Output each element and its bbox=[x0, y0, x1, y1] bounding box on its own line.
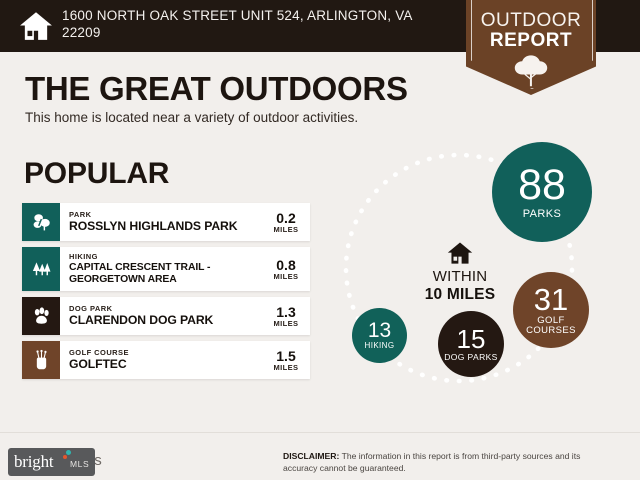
list-item-name: CLARENDON DOG PARK bbox=[69, 314, 213, 327]
list-item[interactable]: DOG PARK CLARENDON DOG PARK 1.3 MILES bbox=[22, 297, 310, 335]
distance-unit: MILES bbox=[269, 225, 303, 234]
list-item-text: DOG PARK CLARENDON DOG PARK bbox=[69, 305, 213, 327]
distance-value: 0.2 bbox=[269, 211, 303, 225]
list-item-distance: 1.3 MILES bbox=[269, 305, 303, 328]
diagram-center-line-1: WITHIN bbox=[400, 268, 520, 285]
distance-value: 0.8 bbox=[269, 258, 303, 272]
page-title: THE GREAT OUTDOORS bbox=[25, 70, 408, 108]
logo-wordmark: bright bbox=[14, 452, 53, 472]
list-item-distance: 0.8 MILES bbox=[269, 258, 303, 281]
list-item-body: PARK ROSSLYN HIGHLANDS PARK 0.2 MILES bbox=[60, 203, 310, 241]
logo-accent-orange-icon bbox=[63, 455, 67, 459]
park-tile bbox=[22, 203, 60, 241]
logo-accent-teal-icon bbox=[66, 450, 71, 455]
list-item-text: HIKING CAPITAL CRESCENT TRAIL - GEORGETO… bbox=[69, 253, 264, 285]
list-item-distance: 0.2 MILES bbox=[269, 211, 303, 234]
popular-list: PARK ROSSLYN HIGHLANDS PARK 0.2 MILES bbox=[22, 203, 310, 385]
bubble-label: PARKS bbox=[523, 209, 561, 221]
bubble-parks[interactable]: 88 PARKS bbox=[492, 142, 592, 242]
list-item-distance: 1.5 MILES bbox=[269, 349, 303, 372]
badge-line-1: OUTDOOR bbox=[466, 10, 596, 32]
list-item-category: HIKING bbox=[69, 253, 264, 261]
logo-suffix: MLS bbox=[70, 459, 89, 469]
footer-divider bbox=[0, 432, 640, 433]
bubble-value: 88 bbox=[518, 164, 566, 207]
bubble-value: 15 bbox=[457, 326, 486, 352]
list-item-text: PARK ROSSLYN HIGHLANDS PARK bbox=[69, 211, 237, 233]
paw-print-icon bbox=[30, 305, 53, 328]
list-item-name: CAPITAL CRESCENT TRAIL - GEORGETOWN AREA bbox=[69, 262, 264, 285]
bubble-value: 31 bbox=[534, 284, 568, 315]
distance-unit: MILES bbox=[269, 363, 303, 372]
home-icon bbox=[19, 9, 53, 43]
pine-trees-icon bbox=[30, 258, 53, 281]
disclaimer: DISCLAIMER: The information in this repo… bbox=[283, 451, 613, 474]
list-item-body: GOLF COURSE GOLFTEC 1.5 MILES bbox=[60, 341, 310, 379]
property-address: 1600 NORTH OAK STREET UNIT 524, ARLINGTO… bbox=[62, 7, 432, 41]
disclaimer-label: DISCLAIMER: bbox=[283, 451, 339, 461]
bubble-golf-courses[interactable]: 31 GOLF COURSES bbox=[513, 272, 589, 348]
list-item-text: GOLF COURSE GOLFTEC bbox=[69, 349, 129, 371]
list-item-name: ROSSLYN HIGHLANDS PARK bbox=[69, 220, 237, 233]
list-item-body: HIKING CAPITAL CRESCENT TRAIL - GEORGETO… bbox=[60, 247, 310, 291]
outdoor-report-page: 1600 NORTH OAK STREET UNIT 524, ARLINGTO… bbox=[0, 0, 640, 480]
bubble-dog-parks[interactable]: 15 DOG PARKS bbox=[438, 311, 504, 377]
list-item-body: DOG PARK CLARENDON DOG PARK 1.3 MILES bbox=[60, 297, 310, 335]
bubble-label: DOG PARKS bbox=[444, 353, 498, 362]
dotted-circle-path bbox=[330, 140, 640, 430]
hiking-tile bbox=[22, 247, 60, 291]
list-item-category: DOG PARK bbox=[69, 305, 213, 313]
dog-park-tile bbox=[22, 297, 60, 335]
diagram-center-line-2: 10 MILES bbox=[400, 286, 520, 304]
distance-unit: MILES bbox=[269, 272, 303, 281]
golf-bag-icon bbox=[30, 349, 53, 372]
list-item[interactable]: HIKING CAPITAL CRESCENT TRAIL - GEORGETO… bbox=[22, 247, 310, 291]
within-10-miles-diagram: 88 PARKS 31 GOLF COURSES 15 DOG PARKS 13… bbox=[330, 140, 640, 430]
list-item[interactable]: GOLF COURSE GOLFTEC 1.5 MILES bbox=[22, 341, 310, 379]
park-tree-icon bbox=[30, 211, 53, 234]
tree-icon bbox=[505, 53, 557, 87]
distance-unit: MILES bbox=[269, 319, 303, 328]
home-icon bbox=[447, 240, 473, 266]
bubble-label: GOLF COURSES bbox=[513, 316, 589, 336]
list-item-category: GOLF COURSE bbox=[69, 349, 129, 357]
bubble-hiking[interactable]: 13 HIKING bbox=[352, 308, 407, 363]
bubble-value: 13 bbox=[368, 320, 391, 341]
list-item-name: GOLFTEC bbox=[69, 358, 129, 371]
popular-heading: POPULAR bbox=[24, 157, 169, 191]
badge-line-2: REPORT bbox=[466, 30, 596, 52]
distance-value: 1.3 bbox=[269, 305, 303, 319]
bubble-label: HIKING bbox=[365, 342, 395, 350]
distance-value: 1.5 bbox=[269, 349, 303, 363]
page-subtitle: This home is located near a variety of o… bbox=[25, 110, 358, 125]
golf-course-tile bbox=[22, 341, 60, 379]
list-item[interactable]: PARK ROSSLYN HIGHLANDS PARK 0.2 MILES bbox=[22, 203, 310, 241]
list-item-category: PARK bbox=[69, 211, 237, 219]
